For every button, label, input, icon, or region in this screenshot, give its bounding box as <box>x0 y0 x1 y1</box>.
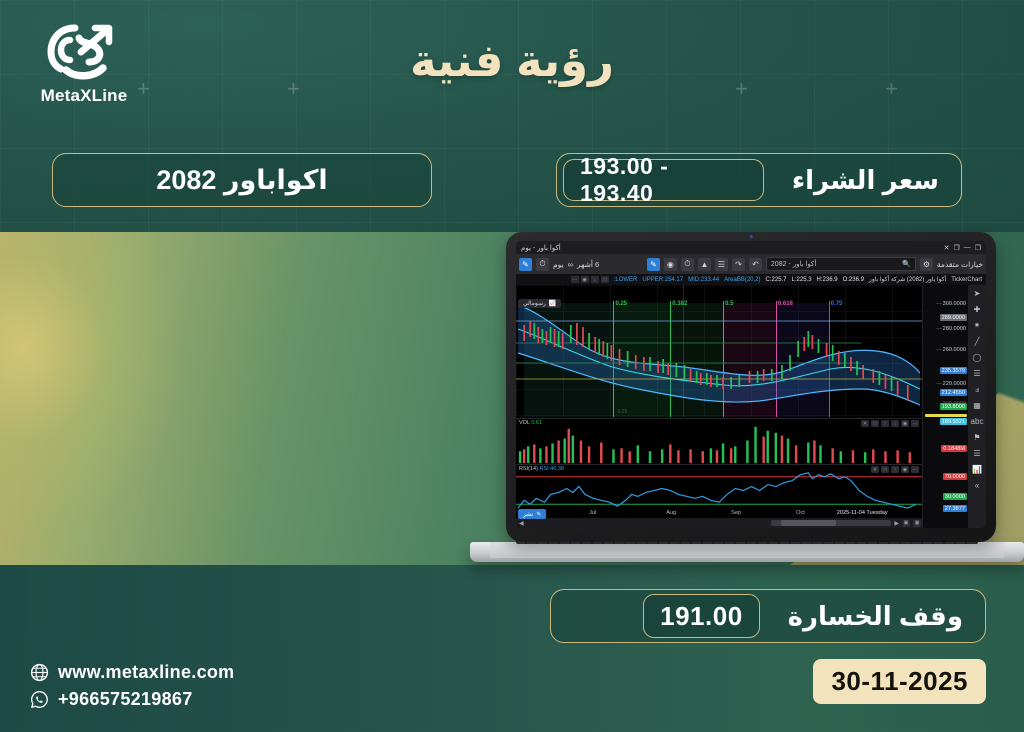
close-icon[interactable]: ✕ <box>944 244 950 252</box>
cursor-icon[interactable]: ➤ <box>970 287 984 300</box>
x-tick: Oct <box>796 510 805 516</box>
move-up-icon[interactable]: ↑ <box>881 420 889 427</box>
ellipse-icon[interactable]: ◯ <box>970 351 984 364</box>
window-controls[interactable]: ✕ ❐ — ❐ <box>944 244 981 252</box>
phone-line[interactable]: +966575219867 <box>30 689 235 710</box>
infobar-source: TickerChart <box>951 277 982 283</box>
symbol-label: اكواباور 2082 <box>134 165 349 196</box>
volume-tag-value: 0.61 <box>531 420 542 426</box>
fib-bottom-label: 0.25 <box>618 409 628 415</box>
pencil-icon[interactable]: ✎ <box>519 258 532 271</box>
stop-loss-label: وقف الخسارة <box>766 601 985 632</box>
advanced-options-button[interactable]: خيارات متقدمة <box>937 260 983 269</box>
footer-contact: www.metaxline.com +966575219867 <box>30 656 235 710</box>
buy-price-label: سعر الشراء <box>770 165 961 196</box>
drawing-tools-sidebar[interactable]: ➤ ✚ ⁕ ╱ ◯ ☰ ⅎ ▦ abc ⚑ ☰ 📊 « <box>968 285 986 528</box>
horizontal-scrollbar[interactable] <box>771 520 891 526</box>
toolbar-right-group: 6 أشهر ∞ يوم ⏱ ✎ <box>519 258 599 271</box>
chart-application: ✕ ❐ — ❐ أكوا باور - يوم خيارات متقدمة ⚙ … <box>516 241 986 528</box>
gear-icon[interactable]: ⚙ <box>920 258 933 271</box>
rsi-tag-value: RSI:46.38 <box>539 466 563 472</box>
minimize-icon[interactable]: — <box>964 244 971 252</box>
chart-infobar: TickerChart أكوا باور (2082) شركة أكوا ب… <box>516 274 986 285</box>
laptop-mockup: ✕ ❐ — ❐ أكوا باور - يوم خيارات متقدمة ⚙ … <box>470 232 1024 602</box>
infobar-high: H:236.9 <box>817 277 838 283</box>
reset-view-icon[interactable]: ▣ <box>913 520 921 527</box>
page-title: رؤية فنية <box>0 34 1024 87</box>
indicator-icon[interactable]: ▲ <box>698 258 711 271</box>
drawing-tab[interactable]: 📈 رسومالي <box>518 299 561 308</box>
compare-icon[interactable]: ☰ <box>715 258 728 271</box>
crosshair-icon[interactable]: ✚ <box>970 303 984 316</box>
infobar-buttons[interactable]: □ ↓ ◉ ⋯ <box>571 276 609 283</box>
laptop-palmrest <box>490 542 1004 558</box>
alert-icon[interactable]: ⏱ <box>681 258 694 271</box>
hide-icon[interactable]: ✕ <box>861 420 869 427</box>
y-tick-highlight: 289.0000 <box>940 314 967 321</box>
fib-icon[interactable]: ☰ <box>970 367 984 380</box>
chart-toolbar: خيارات متقدمة ⚙ 🔍 أكوا باور - 2082 ↶ ↷ ☰… <box>516 254 986 274</box>
symbol-pill: اكواباور 2082 <box>52 153 432 207</box>
globe-icon <box>30 663 49 682</box>
restore-icon[interactable]: ❐ <box>975 244 981 252</box>
pattern-icon[interactable]: ⅎ <box>970 383 984 396</box>
volume-tag: VOL 0.61 <box>519 420 542 426</box>
rsi-tag: RSI(14) RSI:46.38 <box>519 466 564 472</box>
rsi-series-svg <box>516 465 922 514</box>
infobar-instrument: أكوا باور (2082) شركة أكوا باور <box>869 276 946 283</box>
pencil-icon: ✎ <box>536 511 541 518</box>
publish-button[interactable]: ✎ نشر <box>518 509 546 519</box>
window-title: أكوا باور - يوم <box>521 244 561 252</box>
y-tick: 300.0000 <box>936 301 966 307</box>
maximize-icon[interactable]: ❐ <box>953 244 959 252</box>
more-icon[interactable]: ⋯ <box>571 276 579 283</box>
settings-icon[interactable]: ◉ <box>581 276 589 283</box>
settings-sliders-icon[interactable]: ☰ <box>970 447 984 460</box>
draw-icon[interactable]: ✎ <box>647 258 660 271</box>
price-chip: 189.5521 <box>940 418 967 425</box>
move-down-icon[interactable]: ↓ <box>891 420 899 427</box>
publish-label: نشر <box>523 511 533 518</box>
x-tick-current: 2025-11-04 Tuesday <box>837 510 888 516</box>
chart-scrollbar-row[interactable]: ◀ ▶ ▣ ▣ ⚲ ⟲ 🔍 🔍 <box>516 518 968 528</box>
chart-body: 📈 رسومالي <box>516 285 986 528</box>
download-icon[interactable]: ↓ <box>591 276 599 283</box>
volume-pane-buttons[interactable]: ✕ □ ↑ ↓ ◉ ⋯ <box>861 420 919 427</box>
measure-icon[interactable]: ⁕ <box>970 319 984 332</box>
timeframe-range[interactable]: 6 أشهر <box>577 260 599 269</box>
phone-text: +966575219867 <box>58 689 193 710</box>
clock-icon[interactable]: ⏱ <box>536 258 549 271</box>
hide-icon[interactable]: ✕ <box>871 466 879 473</box>
settings-icon[interactable]: ◉ <box>901 420 909 427</box>
brand-name: MetaXLine <box>24 86 144 106</box>
maximize-icon[interactable]: □ <box>881 466 889 473</box>
text-abc-icon[interactable]: abc <box>970 415 984 428</box>
settings-icon[interactable]: ◉ <box>901 466 909 473</box>
price-axis: 300.0000 289.0000 280.0000 260.0000 240.… <box>922 285 968 528</box>
y-tick: 220.0000 <box>936 381 966 387</box>
x-tick: Aug <box>666 510 676 516</box>
infinity-icon: ∞ <box>568 260 573 269</box>
price-series-svg <box>516 285 922 417</box>
timeframe-day[interactable]: يوم <box>553 260 564 269</box>
infobar-close: C:225.7 <box>766 277 787 283</box>
scroll-left-icon[interactable]: ◀ <box>519 520 524 527</box>
scroll-right-icon[interactable]: ▶ <box>894 520 899 527</box>
price-pane[interactable]: 0 0.25 0.382 0.5 0.618 0.75 <box>516 285 922 417</box>
infobar-indicator: AreaBB(20,2) <box>724 277 760 283</box>
price-level-bar <box>925 414 967 417</box>
price-chip: 235.3579 <box>940 367 967 374</box>
chart-panes[interactable]: 📈 رسومالي <box>516 285 968 528</box>
rsi-chip: 30.0000 <box>943 493 967 500</box>
buy-price-pill: سعر الشراء 193.00 - 193.40 <box>556 153 962 207</box>
trendline-icon[interactable]: ╱ <box>970 335 984 348</box>
infobar-upper: UPPER:254.17 <box>642 277 683 283</box>
search-icon: 🔍 <box>902 260 911 268</box>
price-chip: 193.8000 <box>940 403 967 410</box>
window-titlebar: ✕ ❐ — ❐ أكوا باور - يوم <box>516 241 986 254</box>
y-tick: 260.0000 <box>936 347 966 353</box>
toolbar-left-group: خيارات متقدمة ⚙ 🔍 أكوا باور - 2082 ↶ ↷ ☰… <box>647 257 983 271</box>
redo-icon[interactable]: ↷ <box>732 258 745 271</box>
more-icon[interactable]: ⋯ <box>911 420 919 427</box>
infobar-lower: LOWER: <box>614 277 638 283</box>
rsi-tag-name: RSI(14) <box>519 466 538 472</box>
flag-icon[interactable]: ⚑ <box>970 431 984 444</box>
collapse-icon[interactable]: « <box>970 479 984 492</box>
search-text: أكوا باور - 2082 <box>771 260 816 268</box>
whatsapp-icon <box>30 690 49 709</box>
drawing-tab-label: رسومالي <box>523 300 546 307</box>
date-badge: 30-11-2025 <box>813 659 986 704</box>
time-axis: Jul Aug Sep Oct 2025-11-04 Tuesday <box>516 508 922 518</box>
volume-pane[interactable]: VOL 0.61 ✕ □ ↑ ↓ ◉ ⋯ <box>516 418 922 463</box>
more-icon[interactable]: ⋯ <box>911 466 919 473</box>
rsi-pane-buttons[interactable]: ✕ □ ↑ ◉ ⋯ <box>871 466 919 473</box>
volume-chip: 0.1848M <box>941 445 967 452</box>
hide-icon[interactable]: □ <box>601 276 609 283</box>
indicators-icon[interactable]: 📊 <box>970 463 984 476</box>
infobar-mid: MID:233.44 <box>688 277 719 283</box>
background-olive-glow <box>0 232 230 565</box>
fit-screen-icon[interactable]: ▣ <box>902 520 910 527</box>
infobar-low: L:225.3 <box>792 277 812 283</box>
y-tick: 280.0000 <box>936 326 966 332</box>
website-text: www.metaxline.com <box>58 662 235 683</box>
symbol-search-input[interactable]: 🔍 أكوا باور - 2082 <box>766 257 916 271</box>
rsi-chip: 27.3877 <box>943 505 967 512</box>
rsi-pane[interactable]: RSI(14) RSI:46.38 ✕ □ ↑ ◉ ⋯ <box>516 464 922 514</box>
buy-price-value: 193.00 - 193.40 <box>563 159 764 201</box>
snapshot-icon[interactable]: ◉ <box>664 258 677 271</box>
maximize-icon[interactable]: □ <box>871 420 879 427</box>
infobar-open: O:236.9 <box>843 277 864 283</box>
scrollbar-thumb[interactable] <box>781 520 836 526</box>
laptop-lid: ✕ ❐ — ❐ أكوا باور - يوم خيارات متقدمة ⚙ … <box>506 232 996 542</box>
price-chip: 212.4550 <box>940 389 967 396</box>
webcam-icon <box>750 235 753 238</box>
move-up-icon[interactable]: ↑ <box>891 466 899 473</box>
x-tick: Sep <box>731 510 741 516</box>
rsi-chip: 70.0000 <box>943 473 967 480</box>
website-line[interactable]: www.metaxline.com <box>30 662 235 683</box>
grid-icon[interactable]: ▦ <box>970 399 984 412</box>
line-chart-icon: 📈 <box>549 300 556 307</box>
x-tick: Jul <box>589 510 596 516</box>
undo-icon[interactable]: ↶ <box>749 258 762 271</box>
volume-tag-name: VOL <box>519 420 530 426</box>
